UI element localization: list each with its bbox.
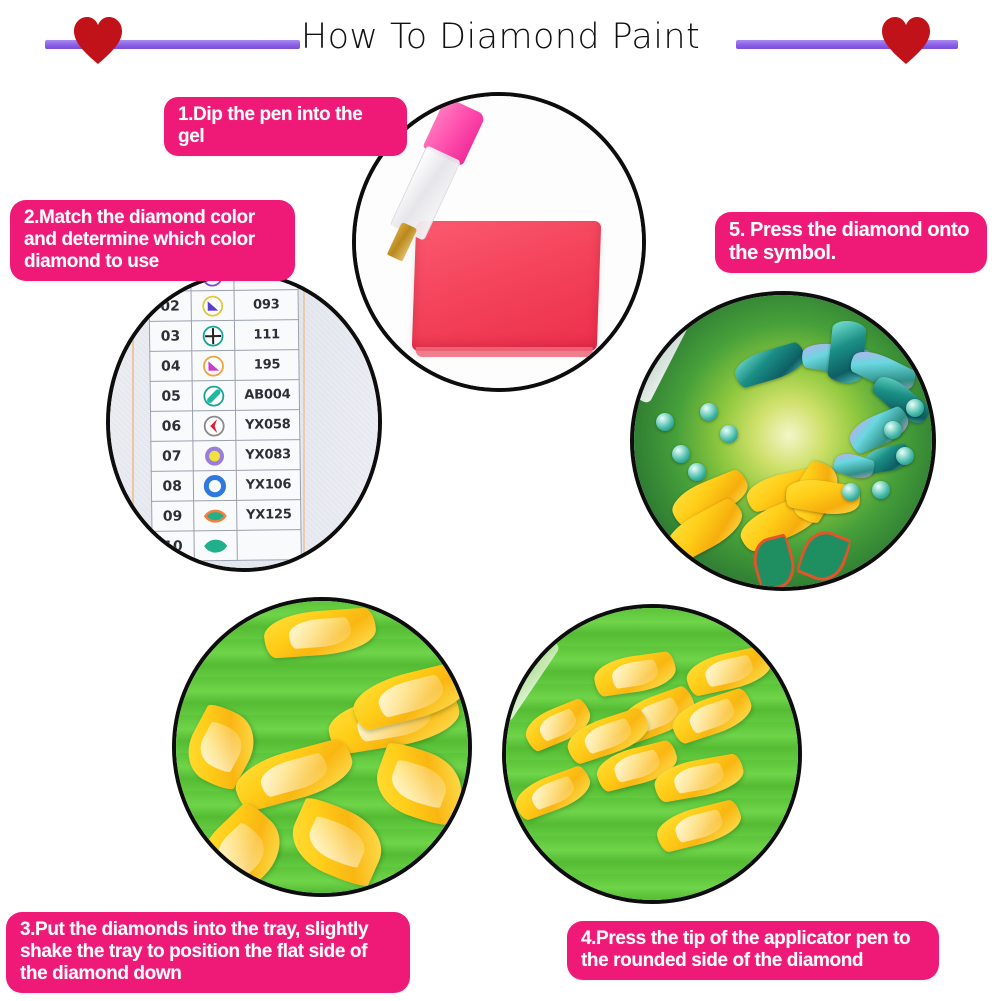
step-2-label: 2.Match the diamond color and determine … bbox=[10, 200, 295, 281]
plus-circle-icon bbox=[201, 323, 225, 347]
triangle-circle-icon bbox=[201, 293, 225, 317]
color-chart-table: 0102002093031110419505AB00406YX05807YX08… bbox=[148, 272, 302, 562]
color-chart-row: 06YX058 bbox=[151, 410, 300, 442]
photo-content bbox=[176, 601, 468, 893]
chart-cell-number: 05 bbox=[150, 381, 192, 412]
photo-content: 0102002093031110419505AB00406YX05807YX08… bbox=[110, 276, 378, 568]
chart-cell-number: 02 bbox=[149, 291, 191, 322]
chart-cell-symbol bbox=[192, 440, 236, 471]
step-1-label: 1.Dip the pen into the gel bbox=[164, 97, 407, 156]
chart-cell-symbol bbox=[192, 380, 236, 411]
chart-cell-symbol bbox=[191, 350, 235, 381]
header: How To Diamond Paint bbox=[0, 0, 1001, 86]
diamond-gem bbox=[896, 447, 914, 465]
chart-cell-code: 093 bbox=[234, 290, 298, 321]
chart-cell-code: AB004 bbox=[235, 380, 299, 411]
chart-cell-code: YX083 bbox=[236, 440, 300, 471]
diamond-gem bbox=[906, 399, 924, 417]
chart-cell-symbol bbox=[191, 290, 235, 321]
photo-pressing-diamond-onto-canvas bbox=[630, 291, 936, 591]
color-chart-row: 10 bbox=[152, 530, 301, 562]
step-5-label: 5. Press the diamond onto the symbol. bbox=[715, 212, 987, 273]
chart-cell-code: YX125 bbox=[237, 500, 301, 531]
color-chart-row: 03111 bbox=[149, 320, 298, 352]
arrow-left-circle-icon bbox=[202, 413, 226, 437]
leaf-shape-icon bbox=[203, 533, 227, 557]
chart-cell-number: 10 bbox=[152, 531, 194, 562]
chart-cell-code: 195 bbox=[235, 350, 299, 381]
color-chart-row: 05AB004 bbox=[150, 380, 299, 412]
diamond-gem bbox=[672, 445, 690, 463]
slash-circle-icon bbox=[202, 383, 226, 407]
color-chart-row: 04195 bbox=[150, 350, 299, 382]
chart-cell-symbol bbox=[192, 410, 236, 441]
photo-diamonds-in-tray bbox=[172, 597, 472, 897]
diamond-gem bbox=[656, 413, 674, 431]
diamond-gem bbox=[872, 481, 890, 499]
chart-cell-symbol bbox=[194, 530, 238, 561]
diamond-gem bbox=[842, 483, 860, 501]
chart-cell-number: 08 bbox=[151, 471, 193, 502]
ring-circle-icon bbox=[203, 473, 227, 497]
step-4-label: 4.Press the tip of the applicator pen to… bbox=[567, 921, 939, 980]
chart-cell-number: 04 bbox=[150, 351, 192, 382]
photo-content bbox=[506, 608, 798, 900]
photo-content bbox=[634, 295, 932, 587]
chart-cell-code: YX106 bbox=[237, 470, 301, 501]
color-chart-row: 09YX125 bbox=[152, 500, 301, 532]
infographic-canvas: How To Diamond Paint 0102002093031110419… bbox=[0, 0, 1001, 1001]
dot-circle-icon bbox=[202, 443, 226, 467]
step-3-label: 3.Put the diamonds into the tray, slight… bbox=[6, 912, 410, 993]
chart-cell-code bbox=[237, 530, 301, 561]
gel-pad bbox=[412, 221, 602, 351]
chart-cell-number: 09 bbox=[152, 501, 194, 532]
chart-cell-symbol bbox=[193, 500, 237, 531]
color-chart-row: 08YX106 bbox=[151, 470, 300, 502]
chart-cell-code: YX058 bbox=[236, 410, 300, 441]
chart-cell-symbol bbox=[193, 470, 237, 501]
diamond-gem bbox=[688, 463, 706, 481]
chart-cell-number: 03 bbox=[149, 321, 191, 352]
color-chart-row: 07YX083 bbox=[151, 440, 300, 472]
triangle-circle-icon bbox=[201, 353, 225, 377]
diamond-gem bbox=[700, 403, 718, 421]
diamond-gem bbox=[720, 425, 738, 443]
leaf-shape-icon bbox=[203, 503, 227, 527]
chart-cell-code: 111 bbox=[235, 320, 299, 351]
photo-color-symbol-chart: 0102002093031110419505AB00406YX05807YX08… bbox=[106, 272, 382, 572]
diamond-gem bbox=[884, 421, 902, 439]
photo-pen-picking-diamond bbox=[502, 604, 802, 904]
chart-cell-number: 07 bbox=[151, 441, 193, 472]
chart-cell-number: 06 bbox=[151, 411, 193, 442]
color-chart-row: 02093 bbox=[149, 290, 298, 322]
chart-cell-symbol bbox=[191, 320, 235, 351]
page-title: How To Diamond Paint bbox=[0, 17, 1001, 57]
